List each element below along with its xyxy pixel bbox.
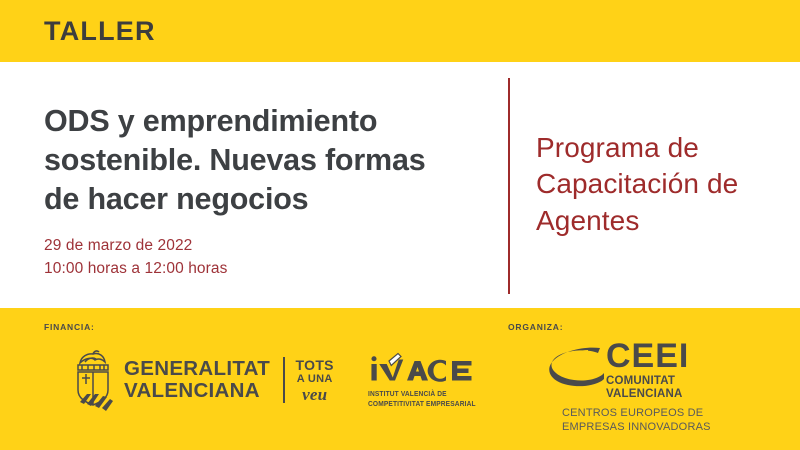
ceei-mark-row: CEEI COMUNITAT VALENCIANA: [548, 342, 711, 402]
generalitat-valenciana-logo: GENERALITAT VALENCIANA TOTS A UNA veu: [70, 346, 334, 414]
ceei-region-line2: VALENCIANA: [606, 388, 689, 402]
ivace-wordmark-icon: [368, 352, 481, 382]
logo-separator: [283, 357, 285, 403]
event-time: 10:00 horas a 12:00 horas: [44, 258, 508, 280]
event-schedule: 29 de marzo de 2022 10:00 horas a 12:00 …: [44, 235, 508, 280]
slogan-line1: TOTS: [296, 358, 334, 372]
ceei-tagline-line1: CENTROS EUROPEOS DE: [562, 407, 711, 421]
ceei-tagline: CENTROS EUROPEOS DE EMPRESAS INNOVADORAS: [562, 407, 711, 435]
event-title: ODS y emprendimiento sostenible. Nuevas …: [44, 102, 459, 219]
generalitat-line1: GENERALITAT: [124, 358, 270, 380]
ivace-logo: INSTITUT VALENCIÀ DE COMPETITIVITAT EMPR…: [368, 352, 485, 408]
ceei-tagline-line2: EMPRESAS INNOVADORAS: [562, 421, 711, 435]
financia-label: FINANCIA:: [44, 322, 95, 332]
ceei-wordmark: CEEI: [606, 342, 689, 372]
generalitat-coat-of-arms-icon: [70, 346, 116, 414]
generalitat-line2: VALENCIANA: [124, 380, 270, 402]
ceei-logo: CEEI COMUNITAT VALENCIANA CENTROS EUROPE…: [548, 342, 711, 435]
ivace-subtitle: INSTITUT VALENCIÀ DE COMPETITIVITAT EMPR…: [368, 389, 476, 408]
organiza-label: ORGANIZA:: [508, 322, 563, 332]
ceei-region: COMUNITAT VALENCIANA: [606, 375, 689, 402]
tots-a-una-veu-slogan: TOTS A UNA veu: [296, 358, 334, 403]
sponsors-banner: FINANCIA: ORGANIZA:: [0, 308, 800, 450]
event-info-column: ODS y emprendimiento sostenible. Nuevas …: [0, 62, 508, 308]
ceei-ellipse-swoosh-icon: [548, 346, 604, 388]
generalitat-wordmark: GENERALITAT VALENCIANA: [124, 358, 270, 402]
event-date: 29 de marzo de 2022: [44, 235, 508, 257]
ivace-subtitle-line2: COMPETITIVITAT EMPRESARIAL: [368, 399, 476, 409]
vertical-divider: [508, 78, 510, 294]
event-poster: TALLER ODS y emprendimiento sostenible. …: [0, 0, 800, 450]
ivace-subtitle-line1: INSTITUT VALENCIÀ DE: [368, 389, 476, 399]
program-title: Programa de Capacitación de Agentes: [536, 130, 800, 239]
main-content: ODS y emprendimiento sostenible. Nuevas …: [0, 62, 800, 308]
organizer-logos: CEEI COMUNITAT VALENCIANA CENTROS EUROPE…: [548, 342, 711, 435]
slogan-line2: A UNA: [296, 374, 334, 385]
ceei-region-line1: COMUNITAT: [606, 375, 689, 389]
slogan-line3: veu: [296, 386, 334, 403]
category-banner: TALLER: [0, 0, 800, 62]
category-label: TALLER: [44, 18, 156, 45]
funding-logos: GENERALITAT VALENCIANA TOTS A UNA veu: [70, 346, 485, 414]
ceei-text-block: CEEI COMUNITAT VALENCIANA: [606, 342, 689, 402]
program-column: Programa de Capacitación de Agentes: [508, 62, 800, 308]
